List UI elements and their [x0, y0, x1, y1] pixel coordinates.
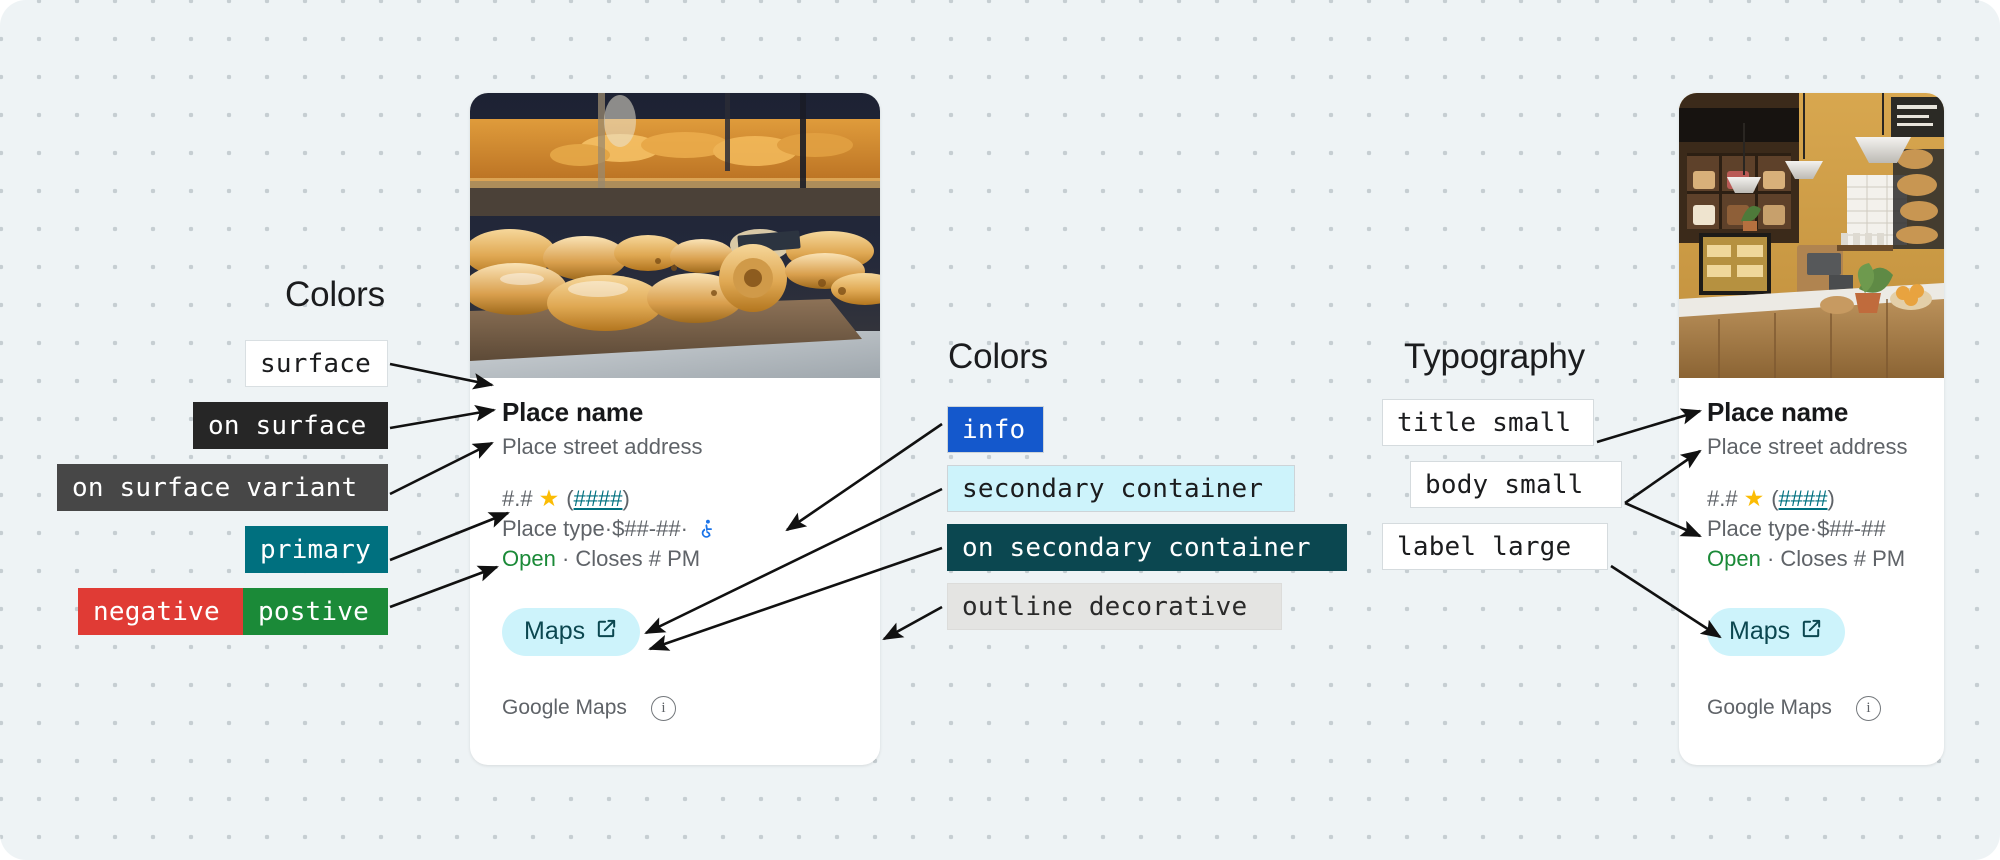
review-count-link[interactable]: ####: [1779, 484, 1828, 514]
place-name: Place name: [1707, 396, 1916, 429]
color-token-label: secondary container: [962, 474, 1263, 504]
typography-token-body-small[interactable]: body small: [1410, 461, 1622, 508]
open-paren: (: [1771, 484, 1778, 514]
place-card-body: Place name Place street address #.# ★ (#…: [470, 378, 880, 721]
color-token-surface[interactable]: surface: [245, 340, 388, 387]
card-footer: Google Maps i: [1707, 696, 1916, 721]
maps-button[interactable]: Maps: [502, 608, 640, 656]
place-type-row: Place type · $##-## ·: [502, 514, 848, 544]
attribution-label: Google Maps: [502, 696, 627, 720]
bakery-pastry-display-photo: [470, 93, 880, 378]
section-title-colors-center: Colors: [948, 337, 1048, 377]
separator-2: ·: [681, 514, 688, 544]
star-icon: ★: [539, 483, 560, 514]
info-glyph: i: [1866, 700, 1870, 717]
open-paren: (: [566, 484, 573, 514]
rating-value: #.#: [502, 484, 533, 514]
place-card-body: Place name Place street address #.# ★ (#…: [1679, 378, 1944, 721]
rating-row: #.# ★ (####): [1707, 483, 1916, 514]
maps-button-label: Maps: [524, 617, 585, 646]
close-paren: ): [1828, 484, 1835, 514]
arrow-outline-decorative-to-card-edge: [884, 607, 942, 639]
info-glyph: i: [661, 700, 665, 717]
typography-token-label: title small: [1397, 408, 1571, 438]
info-icon[interactable]: i: [651, 696, 676, 721]
place-type-row: Place type · $##-##: [1707, 514, 1916, 544]
color-token-on-secondary-container[interactable]: on secondary container: [947, 524, 1347, 571]
price-range: $##-##: [1817, 514, 1886, 544]
color-token-label: on secondary container: [962, 533, 1311, 563]
color-token-label: postive: [258, 597, 369, 627]
place-address: Place street address: [502, 433, 848, 462]
separator-3: ·: [556, 546, 576, 571]
color-token-label: outline decorative: [962, 592, 1247, 622]
typography-token-label: body small: [1425, 470, 1584, 500]
external-link-icon: [595, 617, 618, 647]
star-icon: ★: [1744, 483, 1765, 514]
hours-row: Open · Closes # PM: [1707, 544, 1916, 574]
typography-token-label: label large: [1397, 532, 1571, 562]
place-card-right: Place name Place street address #.# ★ (#…: [1679, 93, 1944, 765]
wheelchair-accessible-icon: [697, 518, 718, 539]
color-token-positive[interactable]: postive: [243, 588, 388, 635]
color-token-on-surface-variant[interactable]: on surface variant: [57, 464, 388, 511]
color-token-primary[interactable]: primary: [245, 526, 388, 573]
rating-row: #.# ★ (####): [502, 483, 848, 514]
maps-button-label: Maps: [1729, 617, 1790, 646]
hours-row: Open · Closes # PM: [502, 544, 848, 574]
status-open: Open: [502, 546, 556, 571]
attribution-label: Google Maps: [1707, 696, 1832, 720]
closing-time: Closes # PM: [575, 546, 700, 571]
color-token-label: on surface variant: [72, 473, 357, 503]
review-count-link[interactable]: ####: [574, 484, 623, 514]
color-token-label: info: [962, 415, 1025, 445]
color-token-outline-decorative[interactable]: outline decorative: [947, 583, 1282, 630]
info-icon[interactable]: i: [1856, 696, 1881, 721]
external-link-icon: [1800, 617, 1823, 647]
separator-3: ·: [1761, 546, 1781, 571]
color-token-label: negative: [93, 597, 220, 627]
separator-1: ·: [605, 514, 612, 544]
card-footer: Google Maps i: [502, 696, 848, 721]
typography-token-title-small[interactable]: title small: [1382, 399, 1594, 446]
price-range: $##-##: [612, 514, 681, 544]
separator-1: ·: [1810, 514, 1817, 544]
maps-button[interactable]: Maps: [1707, 608, 1845, 656]
section-title-colors-left: Colors: [285, 275, 385, 315]
cafe-interior-counter-photo: [1679, 93, 1944, 378]
color-token-info[interactable]: info: [947, 406, 1044, 453]
close-paren: ): [623, 484, 630, 514]
design-canvas: Colors Colors Typography surface on surf…: [0, 0, 2000, 860]
place-address: Place street address: [1707, 433, 1916, 462]
color-token-label: on surface: [208, 411, 367, 441]
color-token-on-surface[interactable]: on surface: [193, 402, 388, 449]
color-token-secondary-container[interactable]: secondary container: [947, 465, 1295, 512]
place-type: Place type: [1707, 514, 1810, 544]
place-name: Place name: [502, 396, 848, 429]
place-type: Place type: [502, 514, 605, 544]
section-title-typography: Typography: [1404, 337, 1585, 377]
closing-time: Closes # PM: [1780, 546, 1905, 571]
color-token-label: primary: [260, 535, 371, 565]
color-token-label: surface: [260, 349, 371, 379]
rating-value: #.#: [1707, 484, 1738, 514]
status-open: Open: [1707, 546, 1761, 571]
place-card-left: Place name Place street address #.# ★ (#…: [470, 93, 880, 765]
color-token-negative[interactable]: negative: [78, 588, 243, 635]
typography-token-label-large[interactable]: label large: [1382, 523, 1608, 570]
